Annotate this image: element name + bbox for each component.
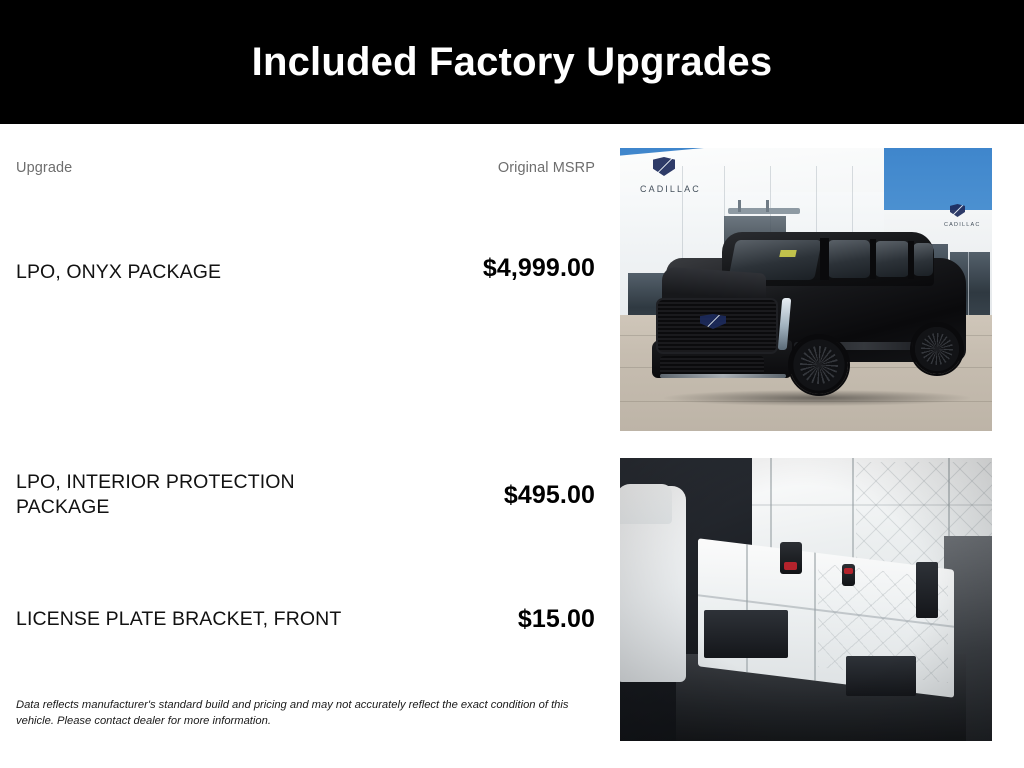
column-header-original-msrp: Original MSRP [498,160,595,176]
disclaimer-text: Data reflects manufacturer's standard bu… [16,697,602,729]
page-header-band: Included Factory Upgrades [0,0,1024,124]
factory-upgrades-page: Included Factory Upgrades Upgrade Origin… [0,0,1024,768]
wheel-spokes [800,346,837,383]
table-row: LPO, ONYX PACKAGE $4,999.00 [16,232,595,402]
vehicle-photo-gallery: CADILLAC CADILLAC [620,148,992,741]
lower-grille [660,356,764,376]
upgrades-table: Upgrade Original MSRP LPO, ONYX PACKAGE … [0,124,610,768]
chrome-bumper-trim [660,374,786,378]
wheel-spokes [921,333,953,365]
light-pole [738,200,741,212]
upgrade-name: LPO, ONYX PACKAGE [16,260,221,285]
page-title: Included Factory Upgrades [0,0,1024,124]
table-body: LPO, ONYX PACKAGE $4,999.00 LPO, INTERIO… [16,232,595,650]
front-wheel [790,336,848,394]
photo-vignette [620,458,992,741]
upgrade-price: $495.00 [504,481,595,510]
rear-side-window [875,241,909,277]
light-pole [766,200,769,212]
windshield-sticker [779,250,796,257]
rear-wheel [912,324,962,374]
a-pillar [820,238,829,280]
quarter-window [913,243,933,276]
upgrade-price: $4,999.00 [483,254,595,283]
cadillac-wordmark: CADILLAC [640,184,701,194]
upgrade-name: LICENSE PLATE BRACKET, FRONT [16,607,341,632]
front-side-window [828,240,870,278]
vehicle-exterior-photo[interactable]: CADILLAC CADILLAC [620,148,992,431]
column-header-upgrade: Upgrade [16,160,72,176]
vehicle-interior-photo[interactable] [620,458,992,741]
upgrade-name: LPO, INTERIOR PROTECTION PACKAGE [16,470,346,520]
table-header-row: Upgrade Original MSRP [16,160,595,176]
table-row: LICENSE PLATE BRACKET, FRONT $15.00 [16,588,595,650]
c-pillar [908,241,914,279]
upgrade-price: $15.00 [518,605,595,634]
table-row: LPO, INTERIOR PROTECTION PACKAGE $495.00 [16,402,595,588]
cadillac-escalade-vehicle [644,214,974,404]
b-pillar [870,239,876,279]
